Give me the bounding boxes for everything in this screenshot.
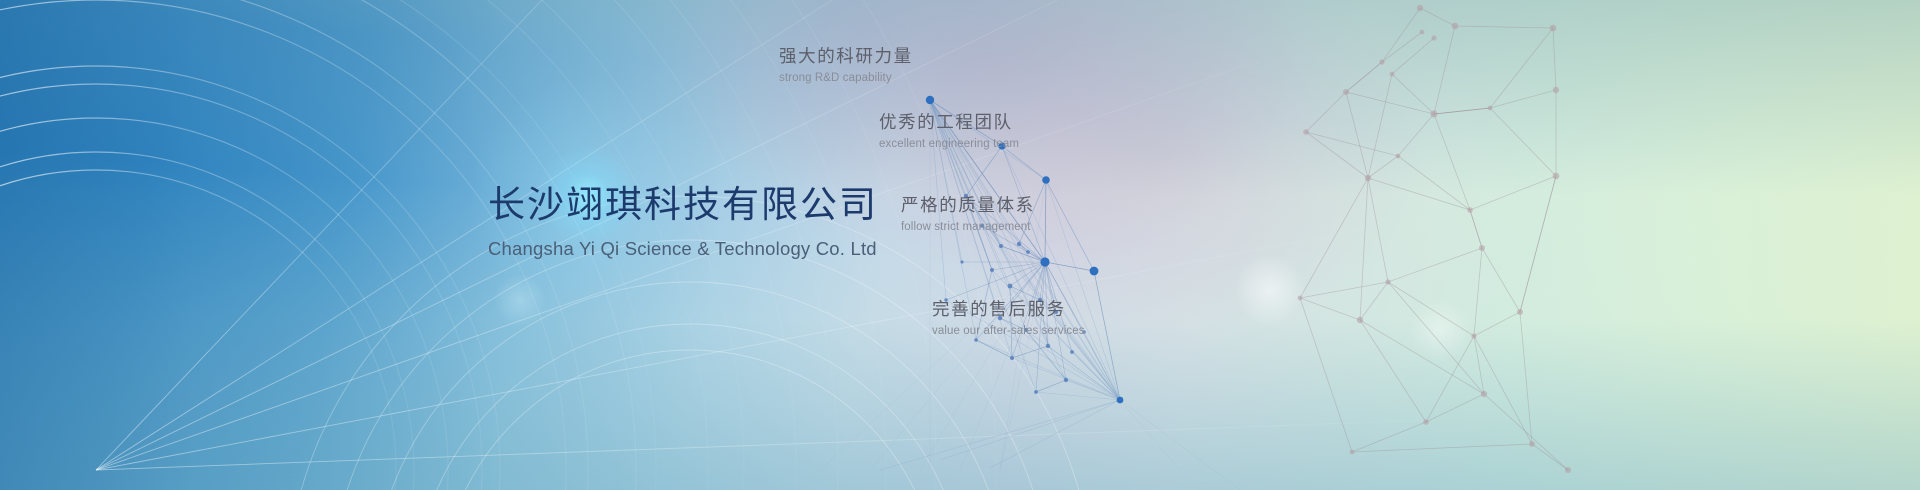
feature-title-en: strong R&D capability (779, 72, 913, 86)
feature-title-en: excellent engineering team (879, 138, 1019, 152)
company-name-english: Changsha Yi Qi Science & Technology Co. … (488, 238, 968, 260)
company-name-chinese: 长沙翊琪科技有限公司 (488, 182, 968, 229)
feature-title-en: value our after-sales services (932, 325, 1085, 339)
feature-quality-system: 严格的质量体系 follow strict management (901, 195, 1035, 235)
feature-engineering-team: 优秀的工程团队 excellent engineering team (879, 112, 1019, 152)
feature-title-cn: 优秀的工程团队 (879, 112, 1019, 134)
feature-title-cn: 严格的质量体系 (901, 195, 1035, 217)
company-title-block: 长沙翊琪科技有限公司 Changsha Yi Qi Science & Tech… (488, 182, 968, 260)
feature-title-cn: 完善的售后服务 (932, 299, 1085, 321)
feature-title-cn: 强大的科研力量 (779, 46, 913, 68)
company-hero-banner: 长沙翊琪科技有限公司 Changsha Yi Qi Science & Tech… (0, 0, 1920, 490)
feature-rd-capability: 强大的科研力量 strong R&D capability (779, 46, 913, 86)
feature-title-en: follow strict management (901, 221, 1035, 235)
feature-after-sales: 完善的售后服务 value our after-sales services (932, 299, 1085, 339)
